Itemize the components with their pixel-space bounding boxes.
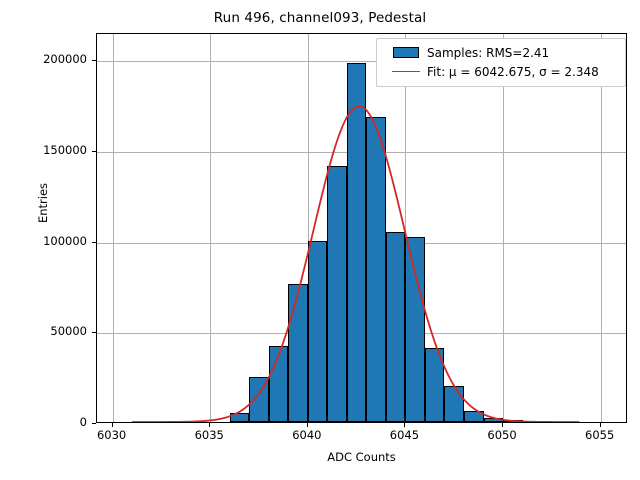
x-tick [404,423,405,427]
x-tick [600,423,601,427]
x-tick-label: 6050 [462,428,542,442]
x-tick [307,423,308,427]
legend-item-fit: Fit: μ = 6042.675, σ = 2.348 [377,62,625,81]
chart-title: Run 496, channel093, Pedestal [0,10,640,26]
x-tick-label: 6035 [169,428,249,442]
y-tick [92,423,96,424]
figure: Run 496, channel093, Pedestal 6030603560… [0,0,640,480]
y-tick-label: 0 [0,415,87,429]
y-axis-label: Entries [36,143,50,263]
fit-curve [97,34,626,422]
legend: Samples: RMS=2.41 Fit: μ = 6042.675, σ =… [376,38,626,87]
legend-line-icon [385,71,427,72]
legend-label-samples: Samples: RMS=2.41 [427,46,549,60]
x-tick [209,423,210,427]
y-tick-label: 50000 [0,324,87,338]
x-axis-label: ADC Counts [96,450,627,464]
x-tick-label: 6030 [72,428,152,442]
y-tick [92,60,96,61]
x-tick-label: 6055 [560,428,640,442]
y-tick [92,332,96,333]
y-tick [92,242,96,243]
legend-item-samples: Samples: RMS=2.41 [377,43,625,62]
y-tick-label: 200000 [0,52,87,66]
fit-curve-path [132,106,579,422]
plot-area [96,33,627,423]
plot-inner [97,34,626,422]
y-tick [92,151,96,152]
legend-patch-icon [385,47,427,58]
x-tick-label: 6045 [364,428,444,442]
x-tick-label: 6040 [267,428,347,442]
x-tick [502,423,503,427]
legend-label-fit: Fit: μ = 6042.675, σ = 2.348 [427,65,599,79]
x-tick [112,423,113,427]
